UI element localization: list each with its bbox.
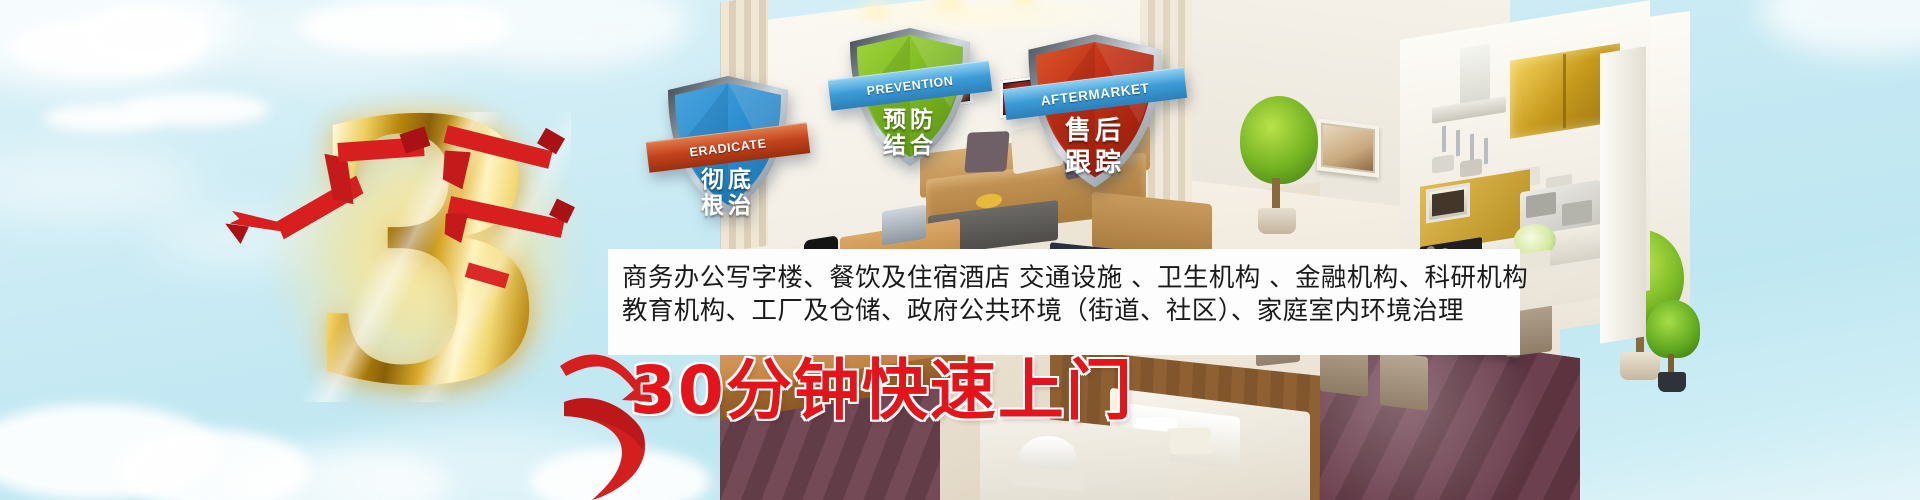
info-panel: 商务办公写字楼、餐饮及住宿酒店 交通设施 、卫生机构 、金融机构、科研机构 教育… <box>608 249 1520 355</box>
headline: 30分钟快速上门 <box>630 355 1134 427</box>
three-digit-glyph: 3 <box>252 54 602 454</box>
shield-aftermarket-cn-line2: 跟踪 <box>1024 142 1166 179</box>
shield-aftermarket: AFTERMARKET 售后 跟踪 <box>1024 32 1166 190</box>
shield-prevention: PREVENTION 预防 结合 <box>846 26 974 168</box>
hero-number-three: 3 <box>252 90 602 420</box>
promo-banner: 3 <box>0 0 1920 500</box>
info-panel-line-1: 商务办公写字楼、餐饮及住宿酒店 交通设施 、卫生机构 、金融机构、科研机构 <box>622 262 1520 295</box>
shield-prevention-cn-line2: 结合 <box>846 126 974 160</box>
shield-eradicate-cn-line2: 根治 <box>664 186 792 220</box>
shield-eradicate: ERADICATE 彻底 根治 <box>664 74 792 216</box>
info-panel-line-2: 教育机构、工厂及仓储、政府公共环境（街道、社区）、家庭室内环境治理 <box>622 295 1520 328</box>
